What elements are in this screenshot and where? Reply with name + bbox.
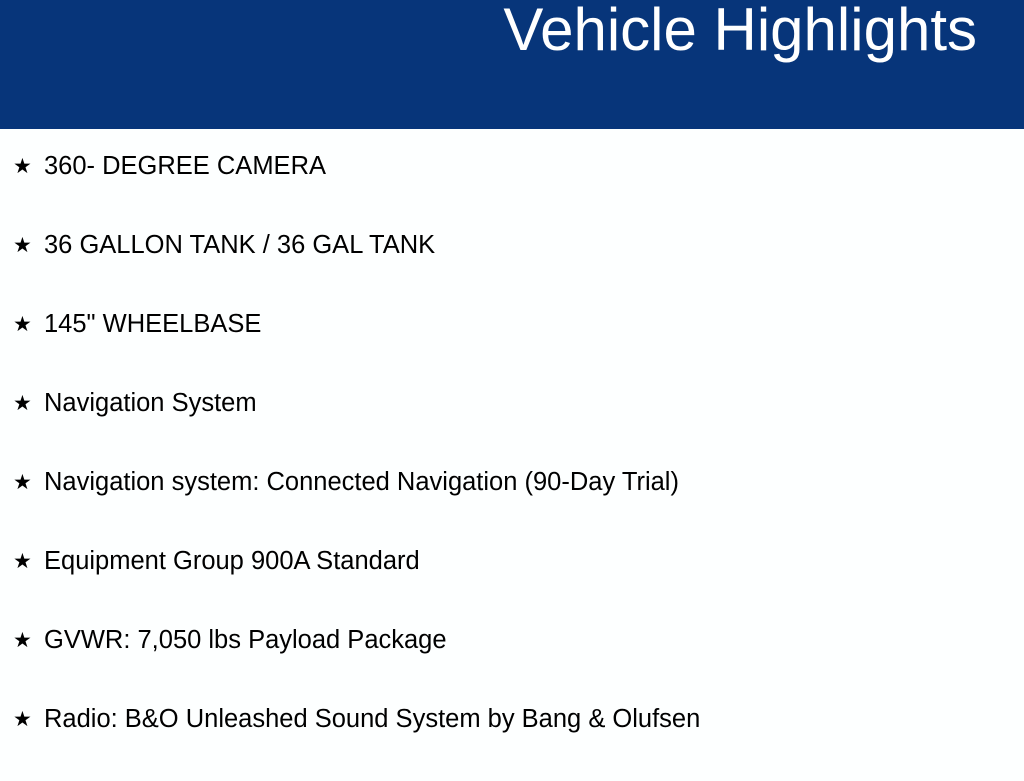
star-bullet-icon: ★ [13, 465, 44, 499]
list-item: ★ Navigation system: Connected Navigatio… [0, 465, 1024, 544]
star-bullet-icon: ★ [13, 307, 44, 341]
star-bullet-icon: ★ [13, 544, 44, 578]
list-item: ★ Radio: B&O Unleashed Sound System by B… [0, 702, 1024, 781]
page-title: Vehicle Highlights [503, 0, 977, 61]
star-bullet-icon: ★ [13, 386, 44, 420]
star-bullet-icon: ★ [13, 228, 44, 262]
header-banner: Vehicle Highlights [0, 0, 1024, 129]
list-item: ★ 36 GALLON TANK / 36 GAL TANK [0, 228, 1024, 307]
list-item-label: 360- DEGREE CAMERA [44, 149, 1024, 183]
list-item-label: Navigation System [44, 386, 1024, 420]
list-item-label: 36 GALLON TANK / 36 GAL TANK [44, 228, 1024, 262]
list-item: ★ Navigation System [0, 386, 1024, 465]
list-item-label: GVWR: 7,050 lbs Payload Package [44, 623, 1024, 657]
star-bullet-icon: ★ [13, 623, 44, 657]
list-item: ★ 145" WHEELBASE [0, 307, 1024, 386]
vehicle-highlights-list: ★ 360- DEGREE CAMERA ★ 36 GALLON TANK / … [0, 129, 1024, 768]
list-item: ★ 360- DEGREE CAMERA [0, 149, 1024, 228]
list-item: ★ GVWR: 7,050 lbs Payload Package [0, 623, 1024, 702]
list-item-label: Radio: B&O Unleashed Sound System by Ban… [44, 702, 1024, 736]
list-item-label: 145" WHEELBASE [44, 307, 1024, 341]
star-bullet-icon: ★ [13, 149, 44, 183]
list-item: ★ Equipment Group 900A Standard [0, 544, 1024, 623]
list-item-label: Navigation system: Connected Navigation … [44, 465, 1024, 499]
vehicle-highlights-slide: Vehicle Highlights ★ 360- DEGREE CAMERA … [0, 0, 1024, 768]
list-item-label: Equipment Group 900A Standard [44, 544, 1024, 578]
star-bullet-icon: ★ [13, 702, 44, 736]
